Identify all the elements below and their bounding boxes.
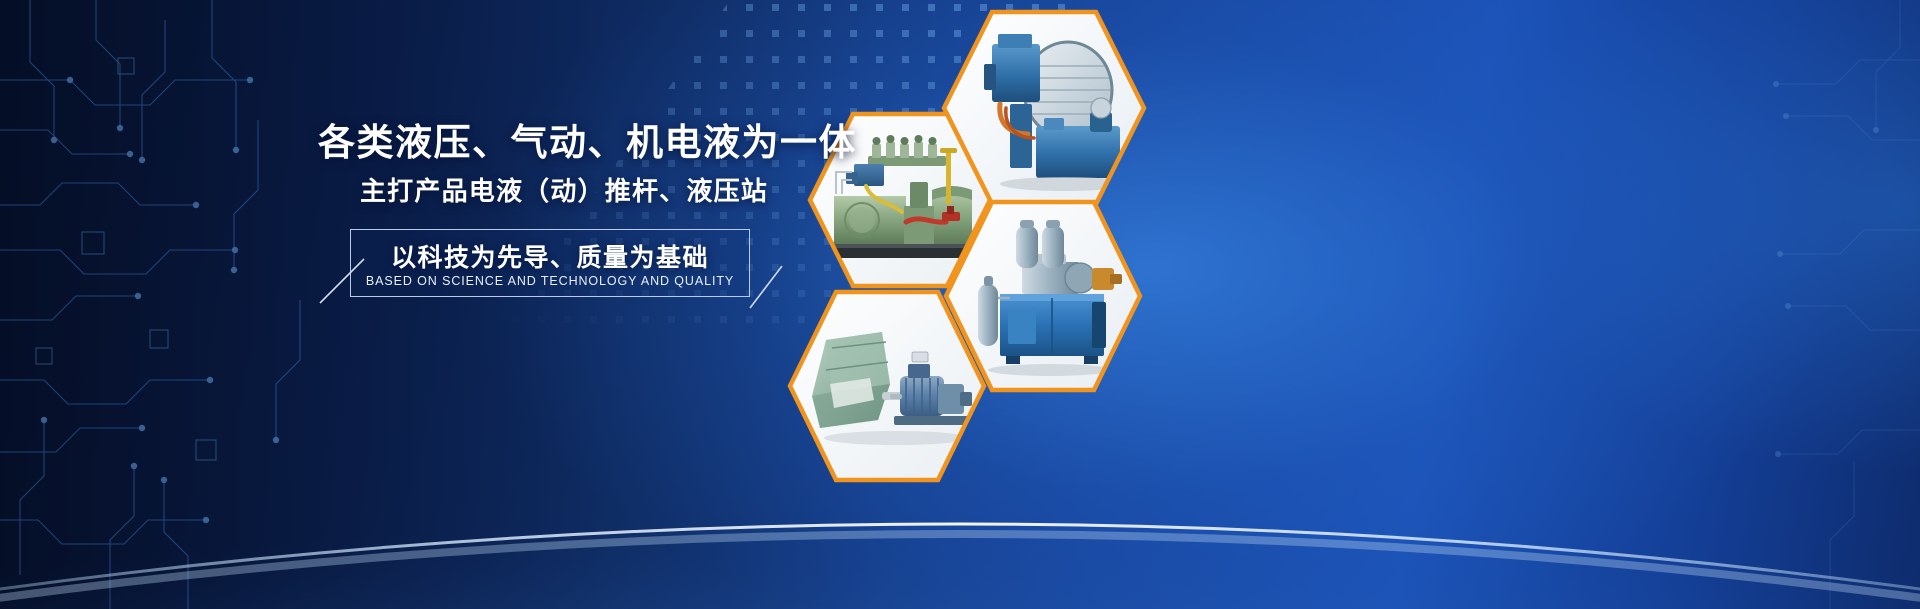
hero-banner: 各类液压、气动、机电液为一体 主打产品电液（动）推杆、液压站 以科技为先导、质量… [0,0,1920,609]
slogan-group: 以科技为先导、质量为基础 BASED ON SCIENCE AND TECHNO… [318,229,750,301]
slogan-english: BASED ON SCIENCE AND TECHNOLOGY AND QUAL… [350,274,750,288]
diagonal-accent-line-icon [748,262,788,310]
product-hex-electro-hydraulic-pusher[interactable] [786,288,988,484]
slogan-chinese: 以科技为先导、质量为基础 [350,238,750,274]
diagonal-accent-line-icon [318,257,374,305]
headline-secondary: 主打产品电液（动）推杆、液压站 [318,177,788,207]
banner-text-block: 各类液压、气动、机电液为一体 主打产品电液（动）推杆、液压站 以科技为先导、质量… [318,122,788,301]
headline-primary: 各类液压、气动、机电液为一体 [318,122,788,163]
